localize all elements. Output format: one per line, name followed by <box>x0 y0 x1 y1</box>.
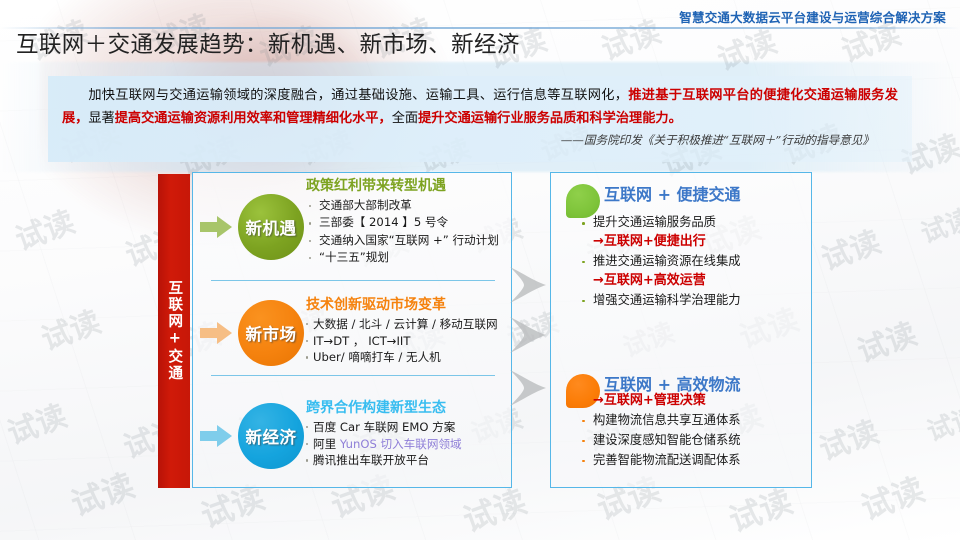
middle-divider-2 <box>211 375 495 376</box>
list-item-highlight: YunOS 切入车联网领域 <box>340 437 462 451</box>
right-list-convenient-transport-2: 推进交通运输资源在线集成 <box>578 252 810 272</box>
right-callout-arrow: →互联网+管理决策 <box>578 392 810 411</box>
list-item: 提升交通运输服务品质 <box>578 213 810 233</box>
badge-new-economy: 新经济 <box>238 403 304 469</box>
chevron-right-icon-1 <box>508 265 552 305</box>
list-item: 构建物流信息共享互通体系 <box>578 411 810 431</box>
list-item: 增强交通运输科学治理能力 <box>578 291 810 311</box>
middle-heading-ecosystem: 跨界合作构建新型生态 <box>306 400 512 417</box>
header-bar: 智慧交通大数据云平台建设与运营综合解决方案 <box>0 0 960 30</box>
badge-new-market: 新市场 <box>238 300 304 366</box>
quote-part-1: 加快互联网与交通运输领域的深度融合，通过基础设施、运输工具、运行信息等互联网化， <box>88 88 628 103</box>
arrow-right-icon-new-market <box>200 322 232 344</box>
spine-bar: 互联网+交通 <box>158 174 190 488</box>
page-title: 互联网＋交通发展趋势：新机遇、新市场、新经济 <box>16 27 520 59</box>
right-list-efficient-logistics: 构建物流信息共享互通体系 建设深度感知智能仓储系统 完善智能物流配送调配体系 <box>578 411 810 471</box>
right-section-convenient-transport: 提升交通运输服务品质 →互联网+便捷出行 推进交通运输资源在线集成 →互联网+高… <box>578 213 810 310</box>
list-item: 交通部大部制改革 <box>306 197 512 214</box>
right-heading-convenient-transport: 互联网 + 便捷交通 <box>604 186 809 204</box>
right-list-convenient-transport: 提升交通运输服务品质 <box>578 213 810 233</box>
middle-heading-policy: 政策红利带来转型机遇 <box>306 178 512 195</box>
list-item: 建设深度感知智能仓储系统 <box>578 431 810 451</box>
quote-highlight-3: 提升交通运输行业服务品质和科学治理能力。 <box>418 111 682 126</box>
middle-section-tech: 技术创新驱动市场变革 大数据 / 北斗 / 云计算 / 移动互联网 IT→DT … <box>306 297 512 366</box>
middle-list-tech: 大数据 / 北斗 / 云计算 / 移动互联网 IT→DT ， ICT→IIT U… <box>306 316 512 366</box>
arrow-right-icon-new-opportunity <box>200 216 232 238</box>
middle-heading-tech: 技术创新驱动市场变革 <box>306 297 512 314</box>
right-callout-arrow: →互联网+便捷出行 <box>578 233 810 252</box>
list-item-prefix: 阿里 <box>313 437 340 451</box>
right-callout-arrow: →互联网+高效运营 <box>578 272 810 291</box>
header-title: 智慧交通大数据云平台建设与运营综合解决方案 <box>679 7 946 26</box>
middle-section-policy: 政策红利带来转型机遇 交通部大部制改革 三部委【 2014 】5 号令 交通纳入… <box>306 178 512 266</box>
quote-text: 加快互联网与交通运输领域的深度融合，通过基础设施、运输工具、运行信息等互联网化，… <box>62 84 898 130</box>
middle-section-ecosystem: 跨界合作构建新型生态 百度 Car 车联网 EMO 方案 阿里 YunOS 切入… <box>306 400 512 469</box>
list-item: 交通纳入国家“互联网 +” 行动计划 <box>306 232 512 249</box>
right-section-efficient-logistics: →互联网+管理决策 构建物流信息共享互通体系 建设深度感知智能仓储系统 完善智能… <box>578 392 810 471</box>
right-list-convenient-transport-3: 增强交通运输科学治理能力 <box>578 291 810 311</box>
list-item: 三部委【 2014 】5 号令 <box>306 214 512 231</box>
quote-part-2: 显著 <box>88 111 114 126</box>
list-item: 推进交通运输资源在线集成 <box>578 252 810 272</box>
quote-attribution: ——国务院印发《关于积极推进“互联网＋”行动的指导意见》 <box>62 132 898 148</box>
list-item: IT→DT ， ICT→IIT <box>306 333 512 350</box>
spine-label: 互联网+交通 <box>158 174 190 488</box>
chevron-right-icon-3 <box>508 368 552 408</box>
list-item: 腾讯推出车联开放平台 <box>306 452 512 469</box>
middle-divider-1 <box>211 280 495 281</box>
arrow-right-icon-new-economy <box>200 425 232 447</box>
list-item: 大数据 / 北斗 / 云计算 / 移动互联网 <box>306 316 512 333</box>
chevron-right-icon-2 <box>508 315 552 355</box>
quote-box: 加快互联网与交通运输领域的深度融合，通过基础设施、运输工具、运行信息等互联网化，… <box>48 76 912 162</box>
badge-new-opportunity: 新机遇 <box>238 194 304 260</box>
list-item: “十三五”规划 <box>306 249 512 266</box>
quote-highlight-2: 提高交通运输资源利用效率和管理精细化水平， <box>115 111 392 126</box>
middle-list-policy: 交通部大部制改革 三部委【 2014 】5 号令 交通纳入国家“互联网 +” 行… <box>306 197 512 267</box>
list-item: 阿里 YunOS 切入车联网领域 <box>306 436 512 453</box>
list-item: Uber/ 嘀嘀打车 / 无人机 <box>306 349 512 366</box>
list-item: 完善智能物流配送调配体系 <box>578 451 810 471</box>
list-item: 百度 Car 车联网 EMO 方案 <box>306 419 512 436</box>
middle-list-ecosystem: 百度 Car 车联网 EMO 方案 阿里 YunOS 切入车联网领域 腾讯推出车… <box>306 419 512 469</box>
quote-part-3: 全面 <box>392 111 418 126</box>
